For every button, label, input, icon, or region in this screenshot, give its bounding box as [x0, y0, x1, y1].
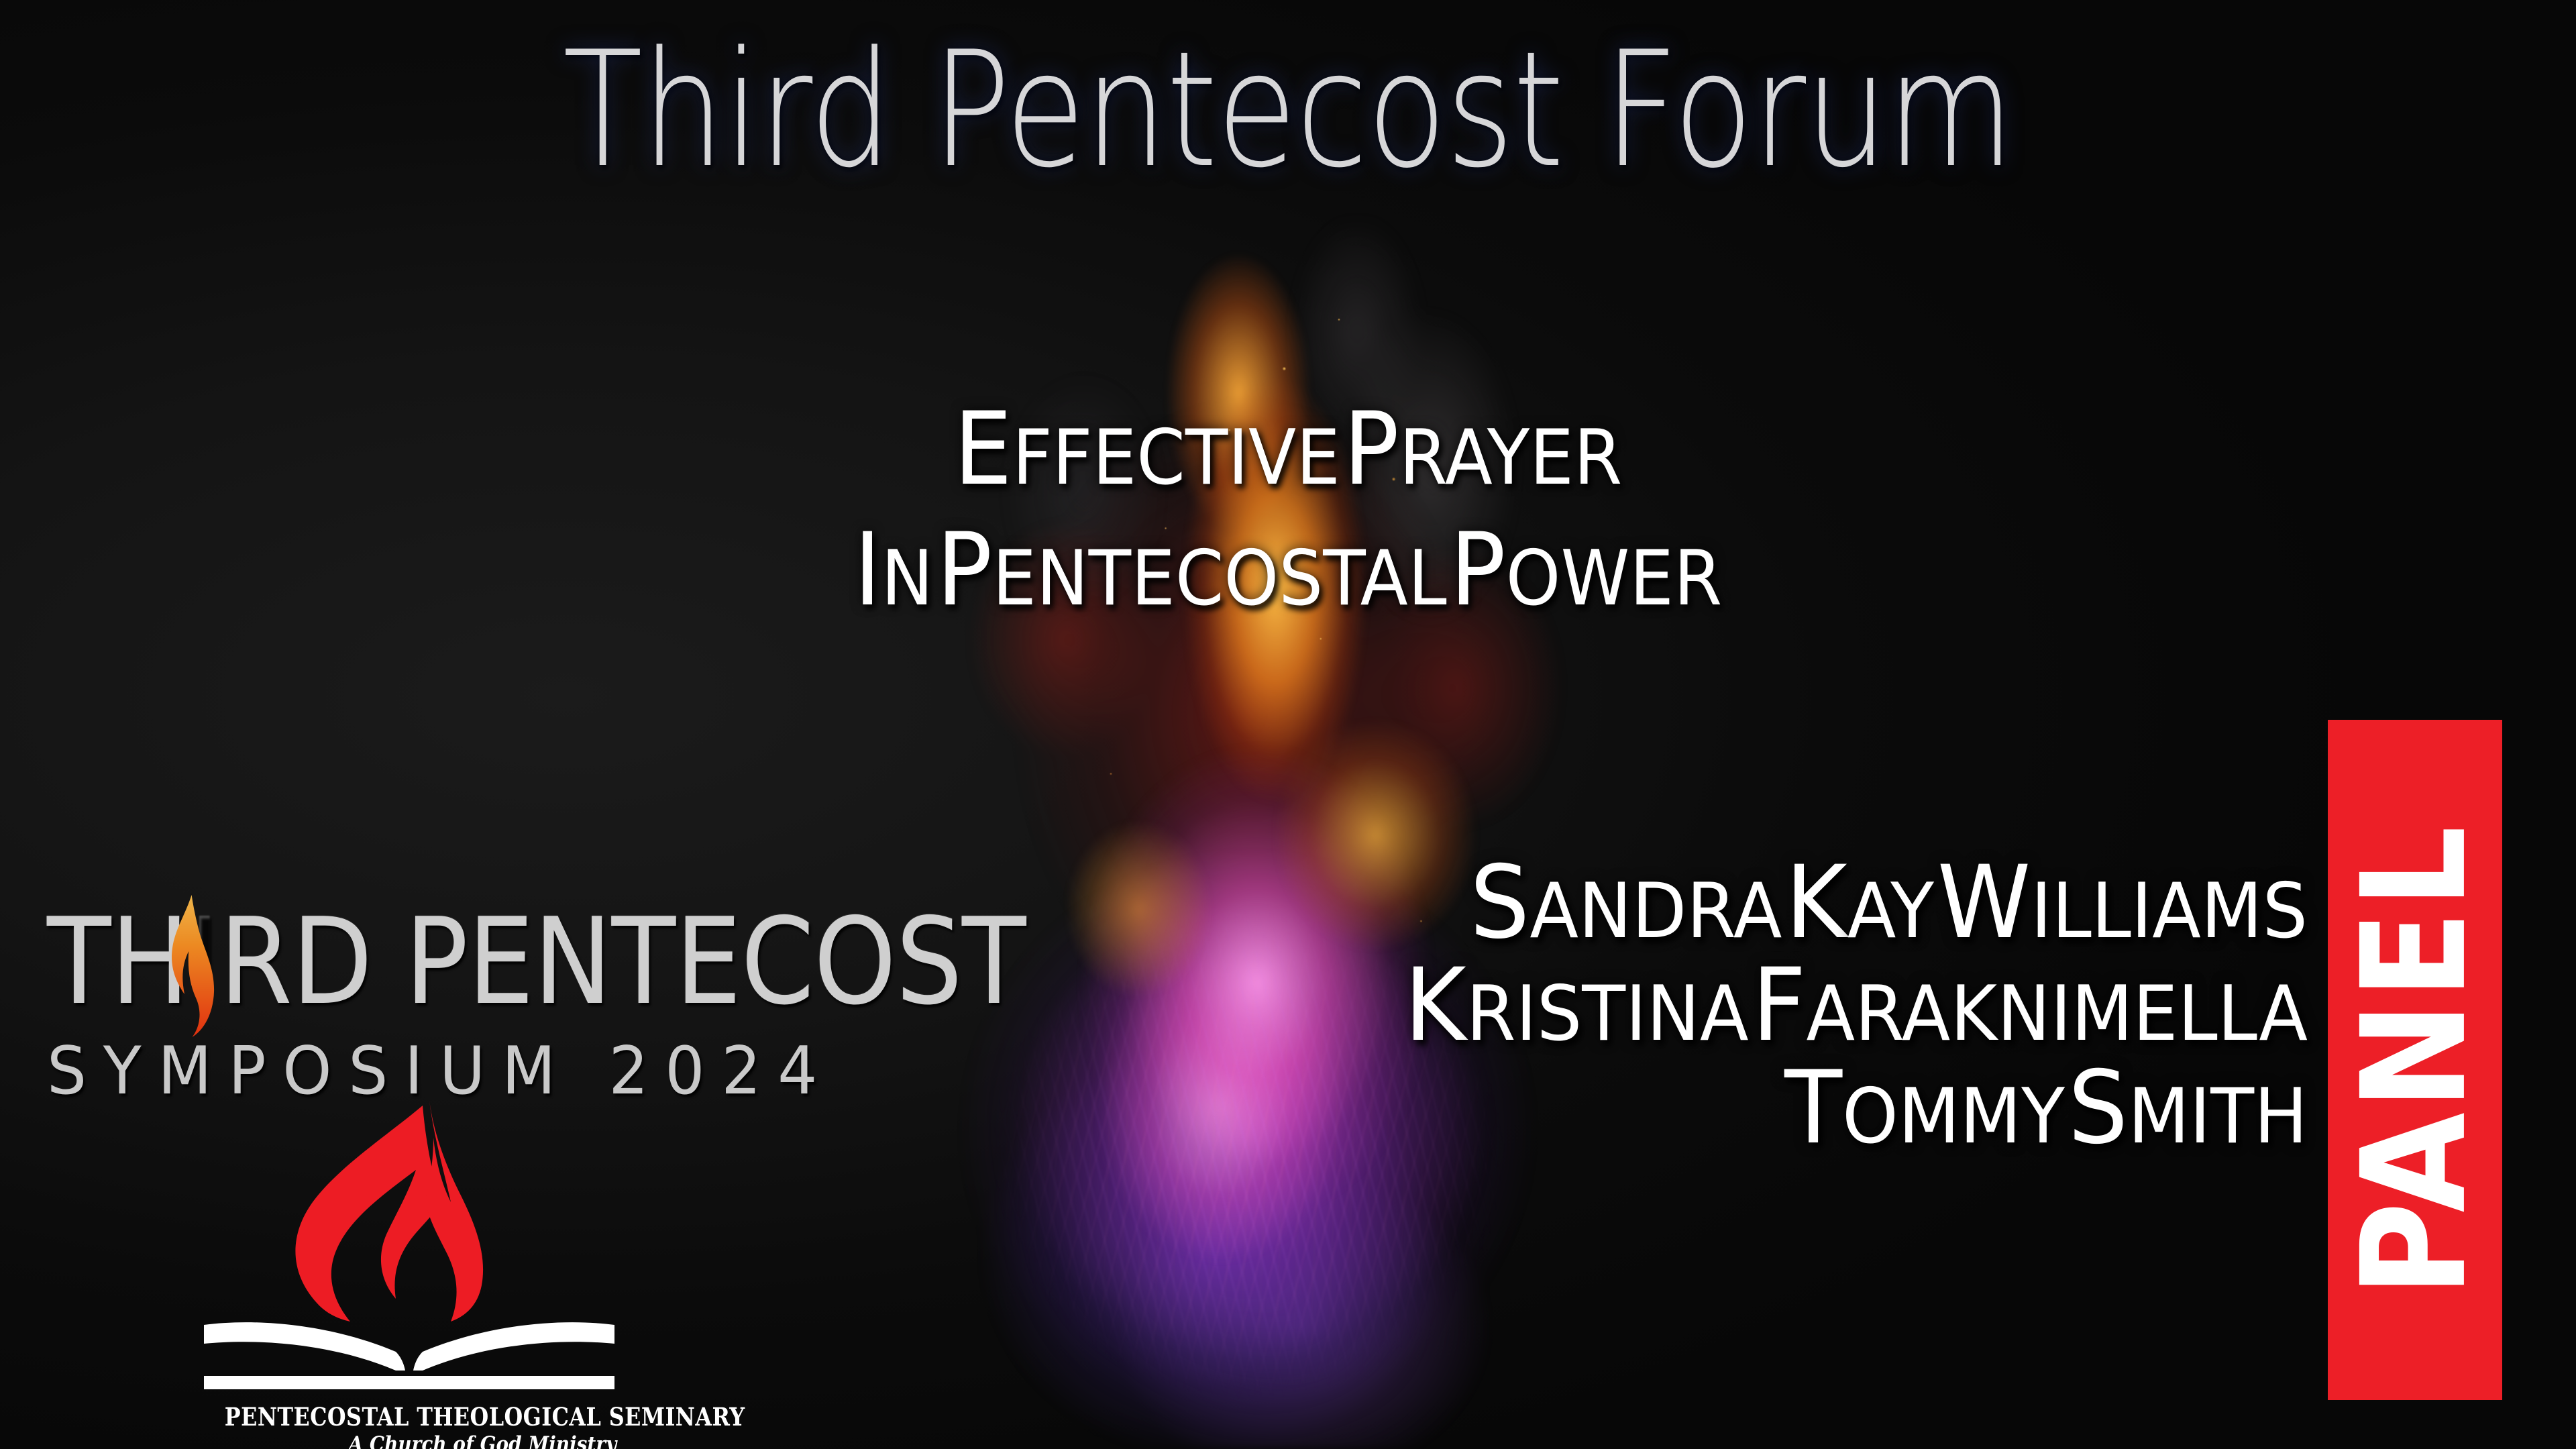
session-line2-cap-1: I	[854, 512, 881, 629]
speaker-1-cap-2: K	[1785, 845, 1847, 961]
event-title: Third Pentecost Forum	[232, 27, 2345, 195]
session-line2-cap-3: P	[1450, 512, 1505, 629]
session-line2-cap-2: P	[936, 512, 992, 629]
speaker-2-cap-2: F	[1752, 947, 1806, 1064]
panel-badge: PANEL	[2328, 720, 2502, 1400]
panel-badge-label: PANEL	[2343, 823, 2487, 1297]
session-line2-rest-3: OWER	[1506, 534, 1723, 623]
seminary-book-icon	[195, 1321, 624, 1395]
session-line2-rest-2: ENTECOSTAL	[992, 534, 1447, 623]
speaker-2-part-2: ARAKNIMELLA	[1807, 969, 2308, 1058]
speaker-3-part-1: OMMY	[1842, 1072, 2065, 1161]
speaker-1-cap-3: W	[1937, 845, 2031, 961]
symposium-logo-subtitle: SYMPOSIUM 2024	[47, 1034, 914, 1108]
session-line1-rest-2: RAYER	[1399, 413, 1622, 502]
speaker-1-part-1: ANDRA	[1529, 867, 1782, 955]
seminary-tagline: A Church of God Ministry	[237, 1432, 624, 1449]
speaker-1-cap-1: S	[1470, 845, 1530, 961]
session-line1-cap-1: E	[954, 391, 1012, 508]
speaker-name-3: TOMMY SMITH	[794, 1057, 2308, 1160]
speaker-3-cap-2: S	[2068, 1050, 2129, 1167]
slide-canvas: Third Pentecost Forum EFFECTIVE PRAYER I…	[0, 0, 2576, 1449]
speaker-2-cap-1: K	[1404, 947, 1466, 1064]
seminary-flame-icon	[195, 1100, 624, 1322]
session-line1-rest-1: FFECTIVE	[1012, 413, 1340, 502]
session-line2-rest-1: N	[881, 534, 934, 623]
symposium-logo-wordmark: THIRD PENTECOST	[47, 902, 850, 1026]
session-title-line-1: EFFECTIVE PRAYER	[103, 389, 2473, 510]
seminary-name: PENTECOSTAL THEOLOGICAL SEMINARY	[225, 1402, 594, 1432]
session-title: EFFECTIVE PRAYER IN PENTECOSTAL POWER	[0, 389, 2576, 631]
session-line1-cap-2: P	[1343, 391, 1399, 508]
speaker-2-part-1: RISTINA	[1466, 969, 1749, 1058]
speaker-3-part-2: MITH	[2128, 1072, 2308, 1161]
symposium-flame-icon	[162, 894, 217, 1038]
speaker-1-part-2: AY	[1847, 867, 1934, 955]
session-title-line-2: IN PENTECOSTAL POWER	[103, 510, 2473, 631]
speaker-1-part-3: ILLIAMS	[2031, 867, 2308, 955]
speaker-3-cap-1: T	[1784, 1050, 1842, 1167]
symposium-word-part-2: RD PENTECOST	[219, 892, 1026, 1031]
symposium-logo: THIRD PENTECOST SYMPOSIUM 2024	[47, 902, 959, 1108]
seminary-logo: PENTECOSTAL THEOLOGICAL SEMINARY A Churc…	[195, 1100, 624, 1449]
